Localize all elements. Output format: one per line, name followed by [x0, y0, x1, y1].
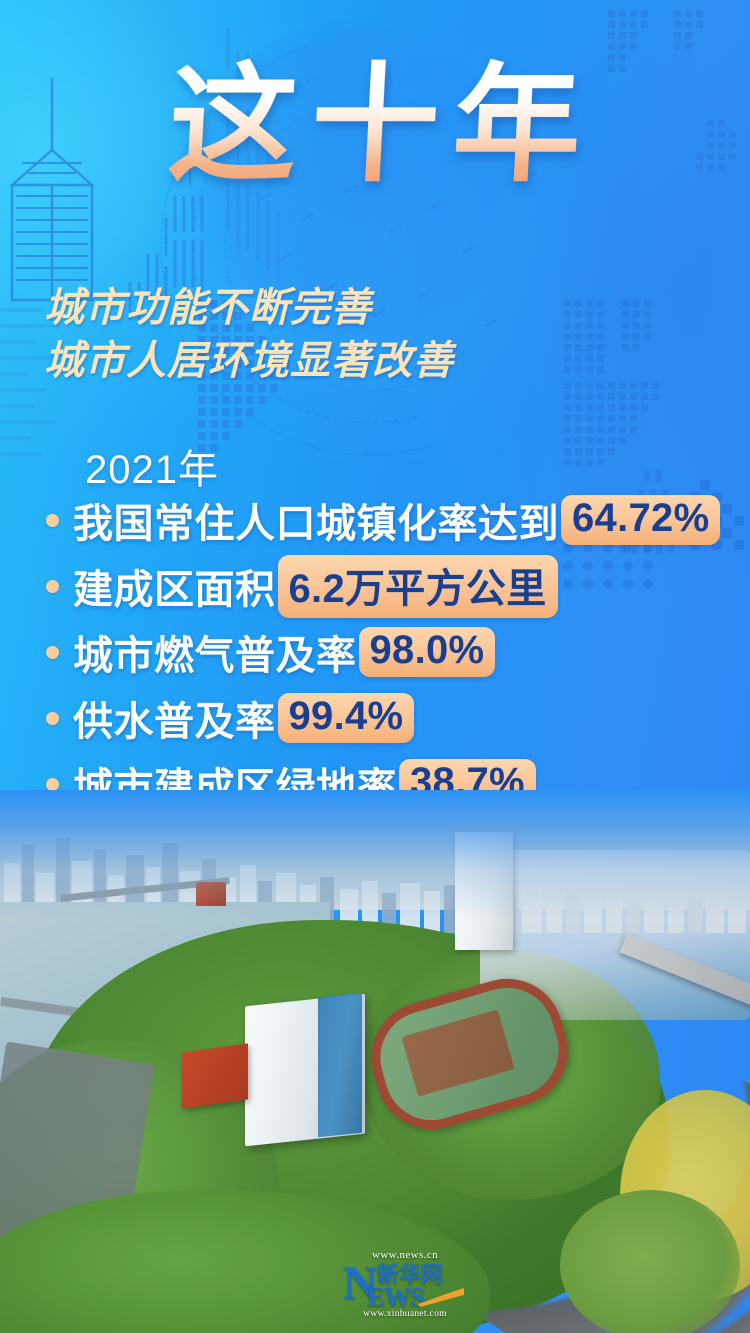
- red-pavilion: [196, 882, 226, 906]
- list-item: 供水普及率99.4%: [46, 685, 746, 751]
- list-item: 建成区面积6.2万平方公里: [46, 553, 746, 619]
- subtitle-line-1: 城市功能不断完善: [44, 282, 644, 335]
- poster-title-block: 这十年: [0, 58, 750, 194]
- subtitle-block: 城市功能不断完善 城市人居环境显著改善: [44, 282, 644, 388]
- list-item: 我国常住人口城镇化率达到64.72%: [46, 487, 746, 553]
- fact-value-badge: 6.2万平方公里: [278, 555, 558, 618]
- subtitle-line-2: 城市人居环境显著改善: [44, 335, 644, 388]
- fact-label: 城市燃气普及率: [73, 623, 357, 681]
- logo-swoosh-icon: [417, 1287, 467, 1307]
- fact-label: 我国常住人口城镇化率达到: [73, 491, 559, 549]
- fact-value-badge: 99.4%: [278, 693, 415, 743]
- poster-root: 这十年 城市功能不断完善 城市人居环境显著改善 2021年 我国常住人口城镇化率…: [0, 0, 750, 1333]
- fact-label: 建成区面积: [73, 557, 276, 615]
- bullet-dot-icon: [46, 580, 59, 593]
- red-roof-building: [182, 1043, 248, 1108]
- fact-value-badge: 98.0%: [359, 627, 496, 677]
- logo-mark: N 新华网 EWS: [341, 1262, 469, 1308]
- grass-patch: [560, 1190, 740, 1333]
- fact-value-badge: 64.72%: [561, 495, 720, 545]
- school-building-accent: [318, 993, 362, 1138]
- logo-letters-ews: EWS: [367, 1284, 424, 1310]
- bullet-dot-icon: [46, 514, 59, 527]
- tall-white-building: [455, 832, 513, 950]
- page-title: 这十年: [151, 58, 598, 194]
- bullet-dot-icon: [46, 646, 59, 659]
- fact-label: 供水普及率: [73, 689, 276, 747]
- bullet-dot-icon: [46, 778, 59, 791]
- list-item: 城市燃气普及率98.0%: [46, 619, 746, 685]
- bullet-dot-icon: [46, 712, 59, 725]
- xinhua-logo[interactable]: www.news.cn N 新华网 EWS www.xinhuanet.com: [341, 1249, 469, 1321]
